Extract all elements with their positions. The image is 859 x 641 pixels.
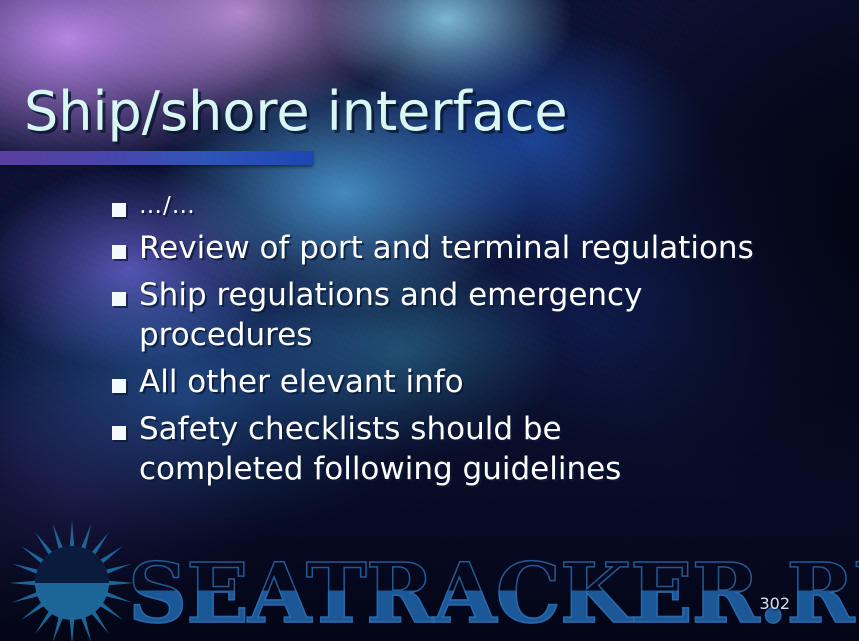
sunburst-icon [8,519,136,641]
watermark: SEATRACKER.RU [0,511,859,641]
list-item-label: …/… [139,192,196,222]
list-item: All other elevant info [112,363,782,403]
presentation-slide: Ship/shore interface …/… Review of port … [0,0,859,641]
square-bullet-icon [112,203,126,217]
title-underline-rule [0,151,313,165]
list-item: Ship regulations and emergency procedure… [112,276,782,356]
list-item: Review of port and terminal regulations [112,229,782,269]
list-item: Safety checklists should be completed fo… [112,410,782,490]
square-bullet-icon [112,379,126,393]
square-bullet-icon [112,426,126,440]
list-item-label: Safety checklists should be completed fo… [139,410,714,490]
slide-title: Ship/shore interface [24,84,568,141]
square-bullet-icon [112,245,126,259]
list-item-label: Ship regulations and emergency procedure… [139,276,644,356]
slide-bullet-list: …/… Review of port and terminal regulati… [112,192,782,497]
list-item-label: All other elevant info [139,363,464,403]
slide-number: 302 [759,594,790,613]
list-item: …/… [112,192,782,222]
square-bullet-icon [112,292,126,306]
watermark-text: SEATRACKER.RU [128,553,859,635]
list-item-label: Review of port and terminal regulations [139,229,754,269]
